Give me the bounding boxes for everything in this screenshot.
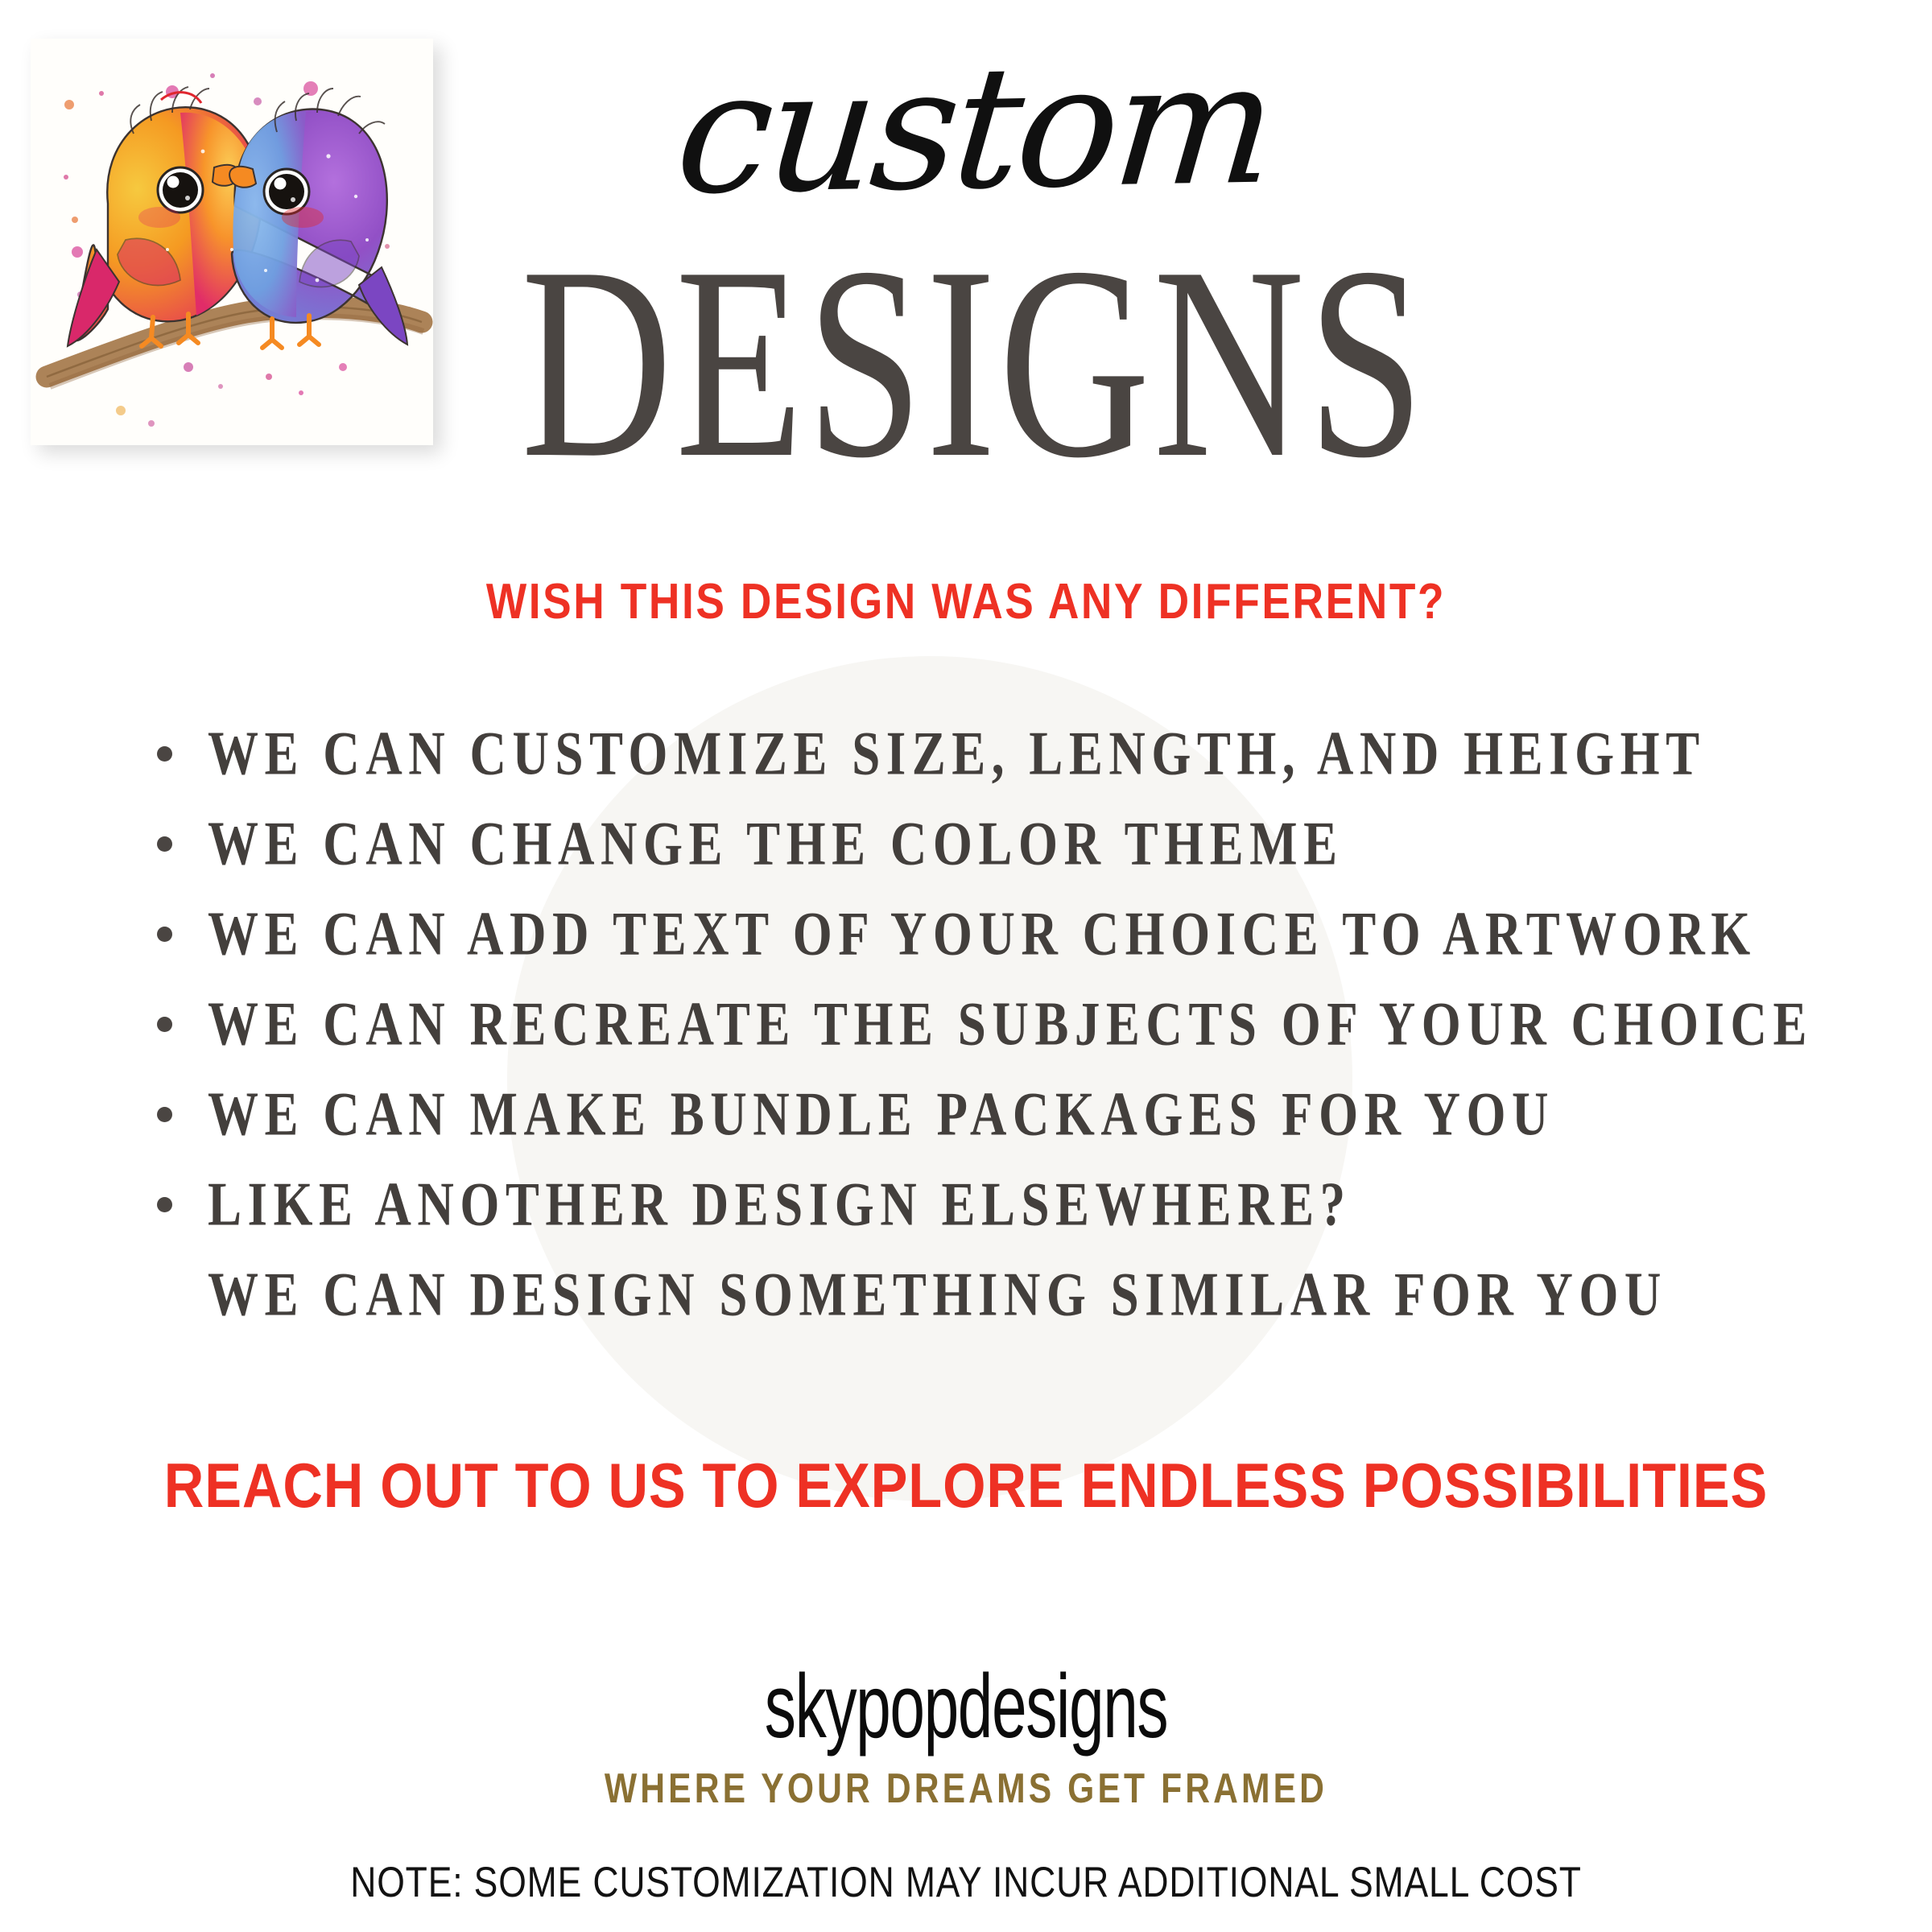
list-item: LIKE ANOTHER DESIGN ELSEWHERE? [157,1159,1815,1249]
list-item-label: LIKE ANOTHER DESIGN ELSEWHERE? [208,1174,1352,1236]
bullet-dot-icon [157,1017,172,1032]
disclaimer-note: NOTE: SOME CUSTOMIZATION MAY INCUR ADDIT… [155,1858,1777,1907]
subheading-question: WISH THIS DESIGN WAS ANY DIFFERENT? [135,573,1797,630]
brand-tagline: WHERE YOUR DREAMS GET FRAMED [174,1765,1758,1813]
feature-list: WE CAN CUSTOMIZE SIZE, LENGTH, AND HEIGH… [157,708,1815,1340]
list-item-label: WE CAN CHANGE THE COLOR THEME [208,813,1344,875]
promo-poster: custom DESIGNS WISH THIS DESIGN WAS ANY … [0,0,1932,1932]
bullet-dot-icon [157,746,172,762]
page-title-designs: DESIGNS [316,236,1633,489]
script-heading-custom: custom [671,39,1278,219]
bullet-dot-icon [157,927,172,942]
list-item-label: WE CAN ADD TEXT OF YOUR CHOICE TO ARTWOR… [208,903,1757,965]
headline-block: custom DESIGNS [266,44,1682,444]
list-item: WE CAN RECREATE THE SUBJECTS OF YOUR CHO… [157,979,1815,1069]
bullet-dot-icon [157,836,172,852]
list-item-continuation: WE CAN DESIGN SOMETHING SIMILAR FOR YOU [157,1249,1815,1340]
list-item-label: WE CAN DESIGN SOMETHING SIMILAR FOR YOU [208,1264,1667,1326]
call-to-action-text: REACH OUT TO US TO EXPLORE ENDLESS POSSI… [116,1449,1816,1522]
list-item: WE CAN CHANGE THE COLOR THEME [157,799,1815,889]
list-item: WE CAN CUSTOMIZE SIZE, LENGTH, AND HEIGH… [157,708,1815,799]
list-item: WE CAN MAKE BUNDLE PACKAGES FOR YOU [157,1069,1815,1159]
list-item-label: WE CAN CUSTOMIZE SIZE, LENGTH, AND HEIGH… [208,723,1706,785]
bullet-dot-icon [157,1197,172,1212]
list-item: WE CAN ADD TEXT OF YOUR CHOICE TO ARTWOR… [157,889,1815,979]
list-item-label: WE CAN RECREATE THE SUBJECTS OF YOUR CHO… [208,993,1813,1055]
bullet-dot-icon-hidden [157,1287,172,1302]
brand-logo-text: skypopdesigns [290,1654,1642,1758]
bullet-dot-icon [157,1107,172,1122]
list-item-label: WE CAN MAKE BUNDLE PACKAGES FOR YOU [208,1084,1554,1146]
